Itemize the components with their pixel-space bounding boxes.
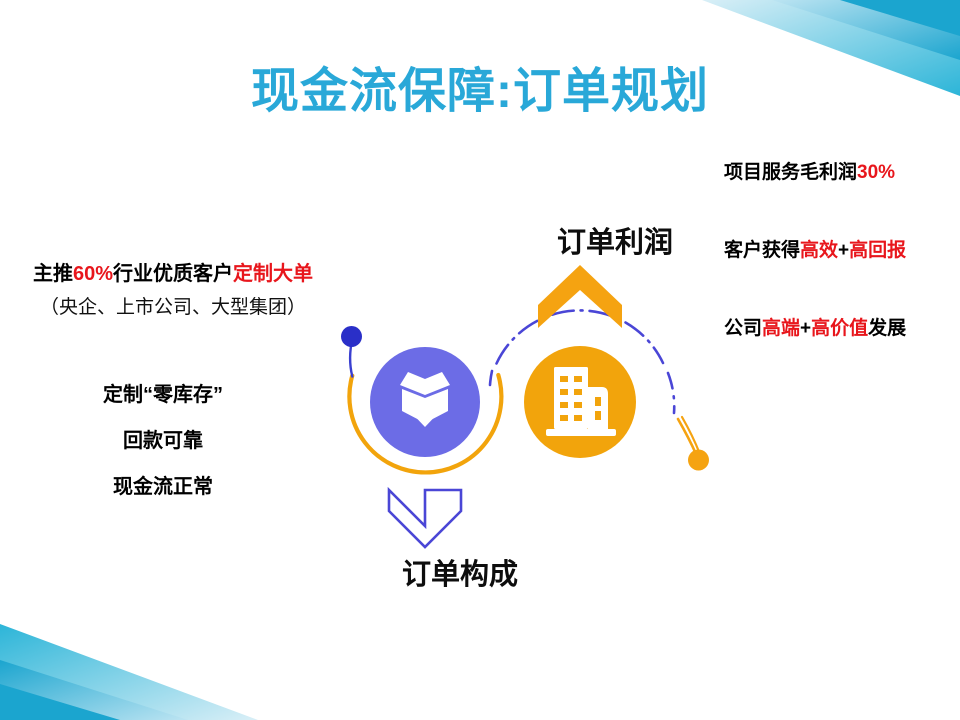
left-bullet-item: 现金流正常: [28, 477, 298, 497]
orange-endpoint-dot: [688, 450, 709, 471]
right-line0-seg-0: 项目服务毛利润: [724, 162, 857, 183]
left-headline-block: 主推60%行业优质客户定制大单 （央企、上市公司、大型集团）: [8, 264, 338, 317]
order-profit-label: 订单利润: [500, 219, 730, 261]
right-benefit-block: 项目服务毛利润30% 客户获得高效+高回报 公司高端+高价值发展: [724, 163, 952, 338]
left-headline-seg-0: 主推: [33, 263, 73, 285]
right-line2-seg-2: +: [800, 318, 811, 339]
right-line2-seg-4: 发展: [868, 318, 906, 339]
right-line1-seg-2: +: [838, 240, 849, 261]
right-benefit-item: 公司高端+高价值发展: [724, 319, 952, 338]
right-benefit-item: 项目服务毛利润30%: [724, 163, 952, 182]
slide-canvas: 现金流保障:订单规划 主推60%行业优质客户定制大单 （央企、上市公司、大型集团…: [0, 0, 960, 720]
right-line0-seg-1: 30%: [857, 162, 895, 183]
left-headline-seg-3: 定制大单: [233, 263, 313, 285]
left-bullet-item: 定制“零库存”: [28, 385, 298, 405]
left-headline-seg-2: 行业优质客户: [113, 263, 233, 285]
corner-ribbon-bottom-left-icon: [0, 570, 300, 720]
order-composition-label: 订单构成: [330, 551, 590, 593]
page-title: 现金流保障:订单规划: [0, 66, 960, 119]
left-bullet-item: 回款可靠: [28, 431, 298, 451]
right-line1-seg-0: 客户获得: [724, 240, 800, 261]
up-chevron-arrow: [538, 265, 622, 328]
blue-dashdot-arc-tail-left: [490, 371, 492, 385]
right-benefit-item: 客户获得高效+高回报: [724, 241, 952, 260]
blue-endpoint-dot: [341, 326, 362, 347]
right-line1-seg-3: 高回报: [849, 240, 906, 261]
right-line2-seg-1: 高端: [762, 318, 800, 339]
blue-dashdot-arc-tail-right: [668, 373, 674, 413]
right-line2-seg-3: 高价值: [811, 318, 868, 339]
left-bullet-block: 定制“零库存” 回款可靠 现金流正常: [28, 385, 298, 497]
orange-arc-tail-2: [682, 417, 700, 453]
left-headline-line1: 主推60%行业优质客户定制大单: [8, 264, 338, 284]
right-line1-seg-1: 高效: [800, 240, 838, 261]
down-chevron-arrow: [389, 490, 461, 547]
left-headline-line2: （央企、上市公司、大型集团）: [8, 298, 338, 317]
left-headline-seg-1: 60%: [73, 263, 113, 285]
